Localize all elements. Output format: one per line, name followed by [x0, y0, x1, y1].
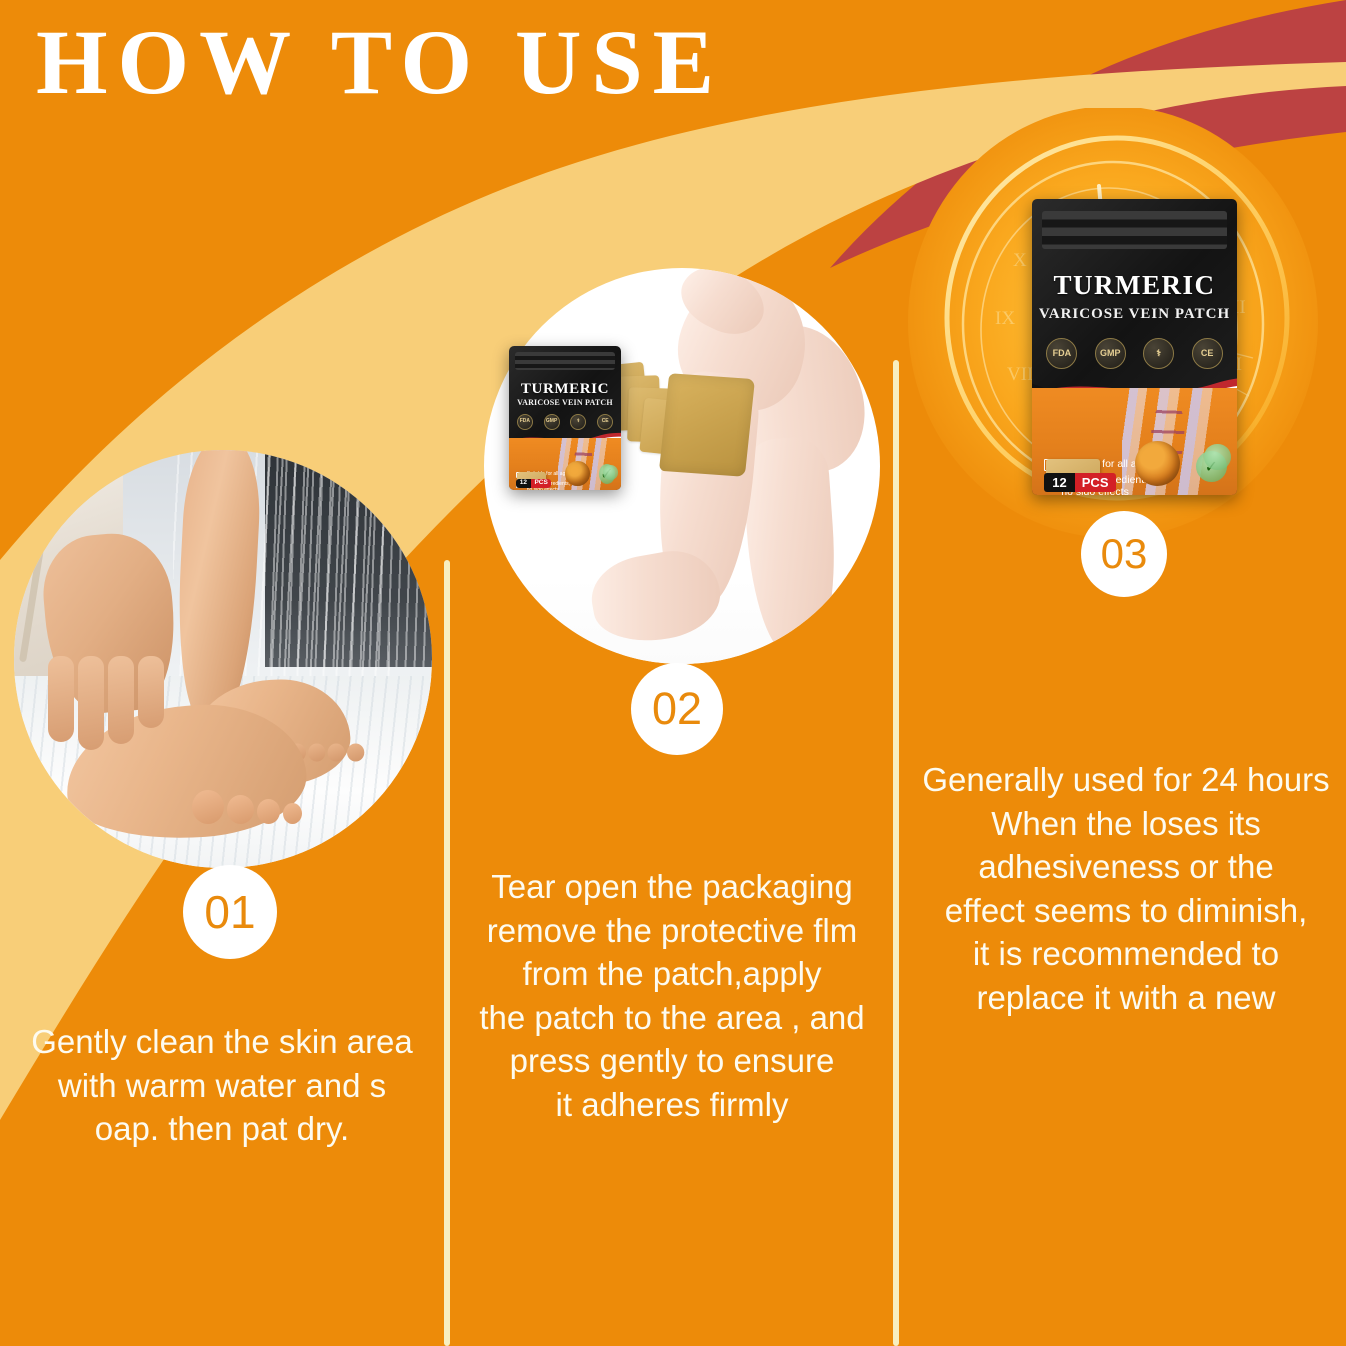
turmeric-root-icon — [565, 461, 590, 486]
count-unit: PCS — [531, 479, 551, 489]
package-subtitle: VARICOSE VEIN PATCH — [1032, 306, 1237, 323]
count-unit: PCS — [1075, 473, 1116, 492]
package-count: 12 PCS — [516, 479, 552, 489]
count-number: 12 — [516, 479, 531, 489]
feet-in-shower-photo — [14, 450, 432, 868]
package-lower-panel: Suitable for all ages Natural ingredient… — [1032, 388, 1237, 495]
package-count: 12 PCS — [1044, 473, 1115, 492]
gmp-badge-icon: GMP — [544, 414, 560, 430]
infographic-poster: HOW TO USE — [0, 0, 1346, 1346]
leaf-icon — [1204, 444, 1231, 471]
package-subtitle: VARICOSE VEIN PATCH — [509, 398, 621, 407]
package-zip-seal — [515, 352, 616, 371]
step-2-description: Tear open the packaging remove the prote… — [458, 865, 886, 1126]
count-number: 12 — [1044, 473, 1074, 492]
certification-badges: FDA GMP ⚕ CE — [517, 414, 613, 430]
ce-badge-icon: CE — [1192, 338, 1223, 369]
step-number-badge-03: 03 — [1081, 511, 1167, 597]
svg-text:X: X — [1013, 250, 1027, 271]
product-package-large: TURMERIC VARICOSE VEIN PATCH FDA GMP ⚕ C… — [1032, 199, 1237, 495]
step-1-description: Gently clean the skin area with warm wat… — [10, 1020, 434, 1151]
step-number-badge-02: 02 — [631, 663, 723, 755]
ce-badge-icon: CE — [597, 414, 613, 430]
page-title: HOW TO USE — [36, 14, 724, 111]
step-number-badge-01: 01 — [183, 865, 277, 959]
column-divider-left — [444, 560, 450, 1346]
fda-badge-icon: FDA — [1046, 338, 1077, 369]
certification-badges: FDA GMP ⚕ CE — [1046, 338, 1222, 369]
package-lower-panel: Suitable for all ages Natural ingredient… — [509, 438, 621, 490]
product-package-small: TURMERIC VARICOSE VEIN PATCH FDA GMP ⚕ C… — [509, 346, 621, 490]
svg-text:IX: IX — [995, 308, 1015, 329]
leaf-icon — [603, 465, 618, 480]
applied-patch-on-calf — [659, 373, 755, 477]
step-3-description: Generally used for 24 hours When the los… — [906, 758, 1346, 1019]
column-divider-right — [893, 360, 899, 1346]
fda-badge-icon: FDA — [517, 414, 533, 430]
gmp-badge-icon: GMP — [1095, 338, 1126, 369]
package-brand: TURMERIC — [1032, 270, 1237, 301]
package-brand: TURMERIC — [509, 381, 621, 398]
step-1-photo-circle — [14, 450, 432, 868]
caduceus-badge-icon: ⚕ — [1143, 338, 1174, 369]
caduceus-badge-icon: ⚕ — [570, 414, 586, 430]
turmeric-root-icon — [1135, 441, 1180, 486]
package-zip-seal — [1042, 211, 1227, 249]
